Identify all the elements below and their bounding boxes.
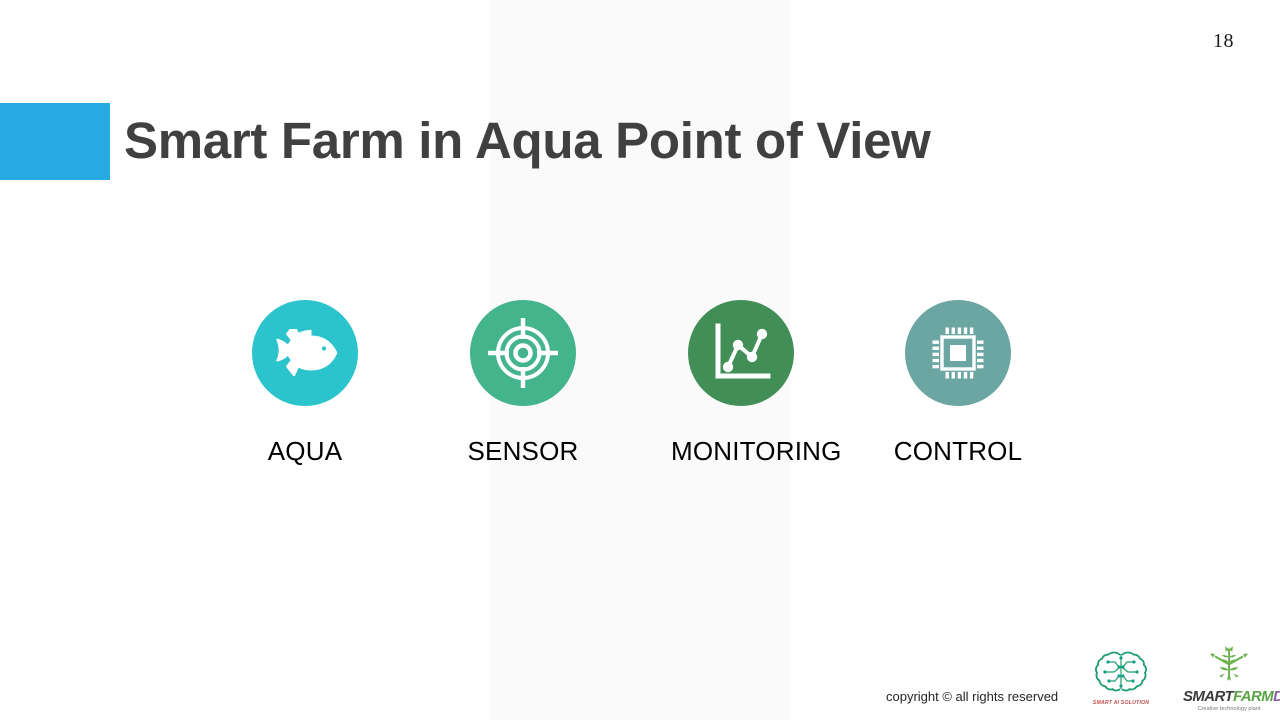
copyright-text: copyright © all rights reserved: [886, 689, 1058, 704]
brain-circuit-icon: [1093, 681, 1149, 698]
wordmark-diy: DIY: [1273, 688, 1280, 705]
icon-row: AQUA: [240, 300, 1040, 490]
item-sensor-label: SENSOR: [453, 436, 593, 467]
snowflake-plant-icon: [1205, 670, 1253, 687]
logo-smartfarmdiy-tagline: Creative technology plant: [1183, 706, 1275, 712]
aqua-circle: [252, 300, 358, 406]
wordmark-farm: FARM: [1233, 688, 1273, 705]
item-sensor[interactable]: SENSOR: [453, 300, 593, 467]
logo-smart-ai-solution: SMART AI SOLUTION: [1090, 650, 1152, 708]
sensor-circle: [470, 300, 576, 406]
item-control-label: CONTROL: [888, 436, 1028, 467]
item-aqua-label: AQUA: [235, 436, 375, 467]
control-circle: [905, 300, 1011, 406]
logo-smartfarmdiy: SMARTFARMDIY Creative technology plant: [1183, 645, 1275, 711]
monitoring-circle: [688, 300, 794, 406]
slide-canvas: 18 Smart Farm in Aqua Point of View AQUA: [0, 0, 1280, 720]
title-accent-bar: [0, 103, 110, 180]
page-number: 18: [1213, 30, 1234, 53]
item-control[interactable]: CONTROL: [888, 300, 1028, 467]
item-aqua[interactable]: AQUA: [235, 300, 375, 467]
item-monitoring[interactable]: MONITORING: [671, 300, 811, 467]
item-monitoring-label: MONITORING: [671, 436, 811, 467]
logo-smartfarmdiy-wordmark: SMARTFARMDIY: [1183, 689, 1275, 704]
crosshair-target-icon: [487, 317, 559, 389]
page-title: Smart Farm in Aqua Point of View: [124, 105, 931, 177]
fish-icon: [271, 329, 339, 377]
line-chart-icon: [711, 323, 771, 383]
wordmark-smart: SMART: [1183, 688, 1233, 705]
cpu-chip-icon: [929, 324, 987, 382]
logo-smart-ai-caption: SMART AI SOLUTION: [1090, 700, 1152, 706]
